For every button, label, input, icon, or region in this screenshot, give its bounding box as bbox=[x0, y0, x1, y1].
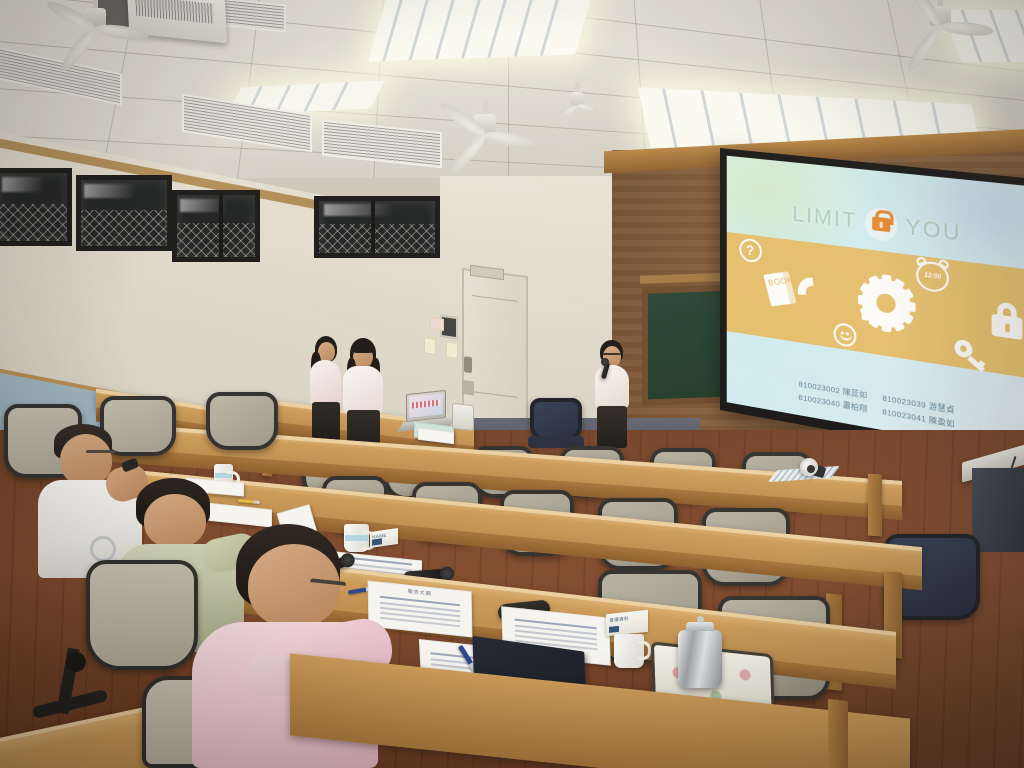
office-chair[interactable] bbox=[86, 560, 198, 670]
question-mark-icon: ? bbox=[739, 237, 762, 263]
telephone-handset-icon bbox=[798, 276, 829, 311]
chair-caster bbox=[66, 652, 86, 672]
window bbox=[314, 196, 440, 258]
presenter bbox=[592, 340, 632, 448]
key-icon bbox=[955, 335, 986, 372]
desk-leg bbox=[828, 699, 848, 768]
fluorescent-light-panel bbox=[943, 10, 1024, 62]
white-mug[interactable] bbox=[614, 634, 644, 668]
classroom-photo-scene: LIMIT YOU ? BOOK bbox=[0, 0, 1024, 768]
padlock-icon bbox=[992, 301, 1023, 340]
book-icon-label: BOOK bbox=[767, 275, 794, 287]
microphone-head bbox=[601, 358, 609, 366]
desktop-speaker bbox=[452, 403, 474, 431]
desk-leg bbox=[868, 474, 882, 537]
clock-icon-label: 12:00 bbox=[924, 272, 941, 281]
window bbox=[172, 190, 260, 262]
air-conditioning-vent bbox=[0, 46, 122, 105]
laptop-computer[interactable] bbox=[406, 390, 446, 422]
smiley-face-icon bbox=[833, 322, 856, 348]
padlock-icon bbox=[865, 206, 898, 242]
book-icon: BOOK bbox=[763, 271, 796, 306]
presentation-slide: LIMIT YOU ? BOOK bbox=[727, 168, 1024, 450]
name-card: 會議資料 bbox=[606, 610, 648, 636]
wall-notice bbox=[424, 337, 436, 355]
window bbox=[0, 168, 72, 246]
author-name: 陳蕊如 bbox=[843, 387, 868, 401]
slide-title-word-2: YOU bbox=[905, 215, 961, 247]
author-name: 陳盈如 bbox=[929, 415, 955, 429]
alarm-clock-icon: 12:00 bbox=[916, 257, 949, 293]
gear-icon bbox=[862, 276, 911, 331]
office-chair[interactable] bbox=[206, 392, 278, 450]
author-name: 蕭柏翔 bbox=[843, 400, 868, 414]
slide-title-word-1: LIMIT bbox=[792, 202, 857, 234]
window bbox=[76, 175, 172, 251]
eyeglasses bbox=[86, 450, 116, 455]
air-conditioning-vent bbox=[322, 120, 442, 169]
shirt-emblem bbox=[90, 536, 116, 562]
wall-notice bbox=[446, 341, 458, 359]
fluorescent-light-panel bbox=[368, 0, 593, 62]
desk-camera-device[interactable] bbox=[800, 458, 850, 482]
wall-notice bbox=[430, 317, 444, 331]
eyeglasses bbox=[603, 353, 621, 357]
author-name: 游慧貞 bbox=[929, 401, 955, 415]
stainless-teapot[interactable] bbox=[678, 630, 722, 688]
student-right bbox=[340, 338, 388, 456]
